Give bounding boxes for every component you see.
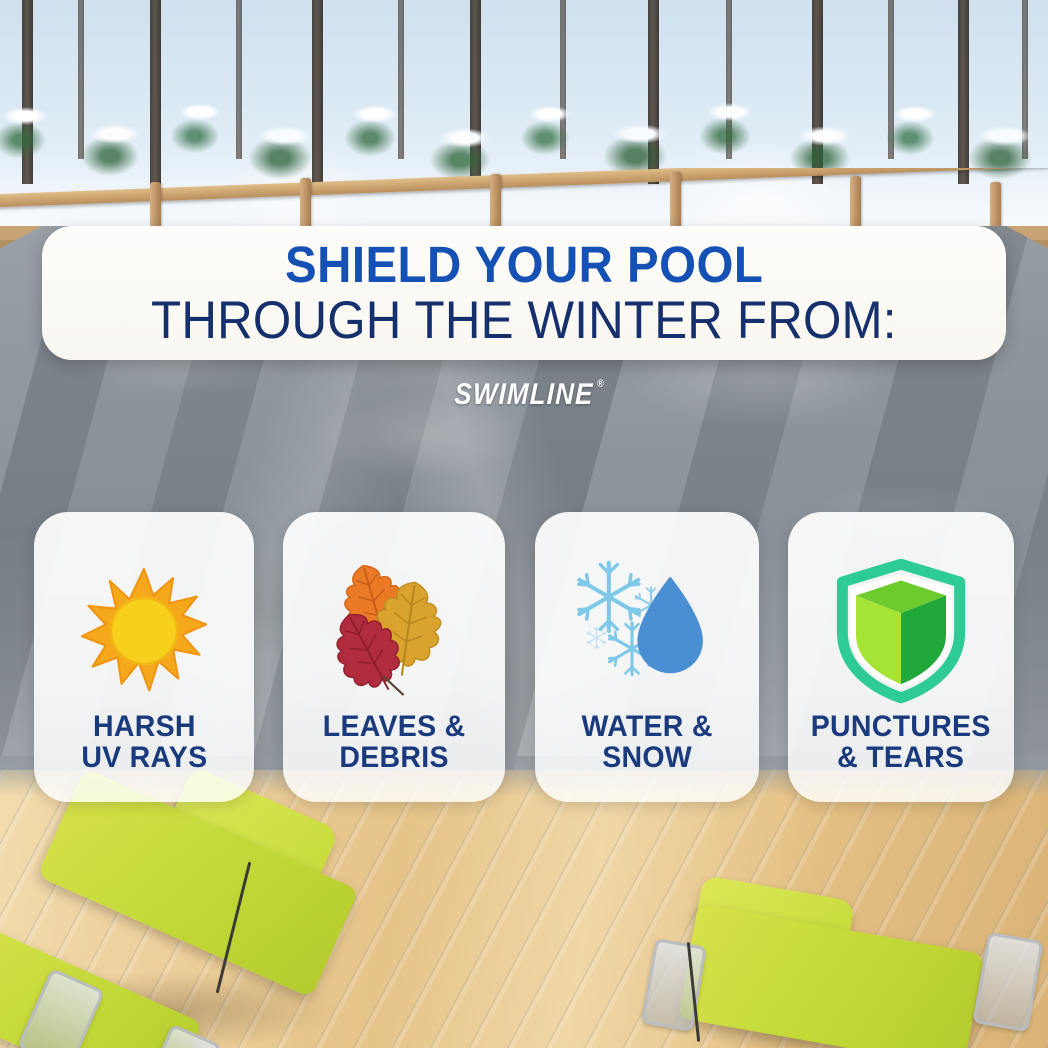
card-label-punctures-tears: PUNCTURES & TEARS [811,712,991,773]
card-label-line1: WATER & [581,710,712,743]
sun-icon-svg [78,565,210,697]
card-label-line2: DEBRIS [323,743,466,774]
brand-wordmark: SWIMLINE® [454,378,594,412]
card-label-line2: & TEARS [811,743,991,774]
card-label-line1: LEAVES & [323,710,466,743]
card-label-line2: UV RAYS [81,743,207,774]
swimline-logo: SWIMLINE® [0,378,1048,412]
leaves-icon-svg [319,556,469,706]
card-label-water-snow: WATER & SNOW [581,712,712,773]
railing-post [670,172,681,230]
brand-name: SWIMLINE [454,378,594,411]
feature-card-leaves-debris[interactable]: LEAVES & DEBRIS [283,512,505,802]
water-snow-icon-svg [572,556,722,706]
feature-card-punctures-tears[interactable]: PUNCTURES & TEARS [788,512,1014,802]
card-label-leaves-debris: LEAVES & DEBRIS [323,712,466,773]
sun-icon [34,546,254,716]
feature-card-water-snow[interactable]: WATER & SNOW [535,512,759,802]
railing-post [490,174,501,232]
lounge-chair-left [0,800,410,1048]
headline-line-1: SHIELD YOUR POOL [285,239,763,291]
water-drop-shape [637,576,702,673]
snow-forest-photo [0,0,1048,240]
water-drop-snowflake-icon [535,546,759,716]
chair-frame [972,932,1043,1032]
card-label-line2: SNOW [581,743,712,774]
snowflake-large [578,563,638,631]
card-label-line1: HARSH [93,710,196,743]
card-label-uv-rays: HARSH UV RAYS [81,712,207,773]
feature-card-uv-rays[interactable]: HARSH UV RAYS [34,512,254,802]
poster-canvas: SHIELD YOUR POOL THROUGH THE WINTER FROM… [0,0,1048,1048]
headline-line-2: THROUGH THE WINTER FROM: [151,293,897,348]
shield-icon-svg [826,556,976,706]
card-label-line1: PUNCTURES [811,710,991,743]
feature-card-row: HARSH UV RAYS [34,512,1014,812]
snowflake-tiny [587,627,605,648]
lounge-chair-right [680,880,1048,1048]
headline-banner: SHIELD YOUR POOL THROUGH THE WINTER FROM… [42,226,1006,360]
registered-trademark-icon: ® [597,378,606,390]
autumn-leaves-icon [283,546,505,716]
shield-cube-icon [788,546,1014,716]
